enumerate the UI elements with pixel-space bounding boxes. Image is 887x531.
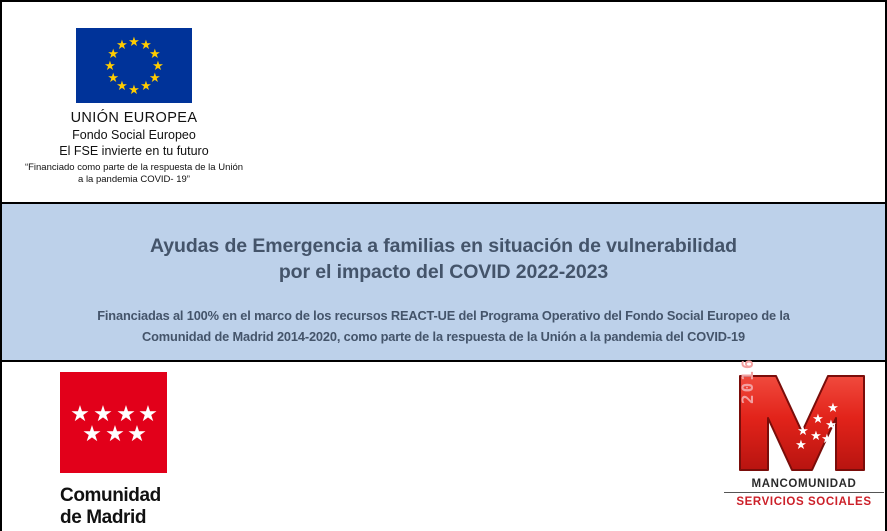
eu-flag-star-icon: ★ (116, 39, 128, 51)
logos-section: ★★★★★★★ Comunidad de Madrid (2, 362, 885, 529)
mancomunidad-m-icon: 2016 ★★★★★★★ (732, 370, 872, 476)
comunidad-de-madrid-logo: ★★★★★★★ Comunidad de Madrid (60, 372, 260, 529)
mancomunidad-star-icon: ★ (812, 412, 825, 425)
eu-flag-star-icon: ★ (104, 60, 116, 72)
banner-title-line1: Ayudas de Emergencia a familias en situa… (2, 234, 885, 260)
mancomunidad-name: MANCOMUNIDAD (724, 478, 884, 493)
eu-slogan: El FSE invierte en tu futuro (14, 144, 254, 158)
mancomunidad-year-label: 2016 (738, 357, 757, 404)
comunidad-de-madrid-star-icon: ★ (126, 423, 148, 445)
mancomunidad-star-icon: ★ (797, 424, 810, 437)
eu-flag-star-icon: ★ (128, 84, 140, 96)
poster-root: ★★★★★★★★★★★★ UNIÓN EUROPEA Fondo Social … (0, 0, 887, 531)
banner-title-line2: por el impacto del COVID 2022-2023 (2, 260, 885, 286)
banner-subtitle-line1: Financiadas al 100% en el marco de los r… (2, 306, 885, 326)
eu-fund-name: Fondo Social Europeo (14, 128, 254, 142)
eu-title: UNIÓN EUROPEA (14, 110, 254, 126)
comunidad-de-madrid-flag-icon: ★★★★★★★ (60, 372, 167, 473)
mancomunidad-star-icon: ★ (825, 418, 838, 431)
mancomunidad-star-icon: ★ (795, 438, 808, 451)
comunidad-de-madrid-wordmark-line1: Comunidad (60, 485, 260, 507)
mancomunidad-subtitle: SERVICIOS SOCIALES (724, 496, 884, 508)
eu-flag-star-icon: ★ (140, 80, 152, 92)
banner-subtitle-line2: Comunidad de Madrid 2014-2020, como part… (2, 327, 885, 347)
comunidad-de-madrid-star-icon: ★ (81, 423, 103, 445)
eu-funding-quote-line2: a la pandemia COVID- 19” (14, 174, 254, 186)
eu-logo-block: ★★★★★★★★★★★★ UNIÓN EUROPEA Fondo Social … (14, 28, 254, 186)
mancomunidad-star-icon: ★ (821, 432, 834, 445)
eu-flag-icon: ★★★★★★★★★★★★ (76, 28, 192, 103)
banner-title: Ayudas de Emergencia a familias en situa… (2, 204, 885, 285)
eu-funding-quote: “Financiado como parte de la respuesta d… (14, 162, 254, 186)
mancomunidad-star-icon: ★ (827, 401, 840, 414)
comunidad-de-madrid-wordmark-line2: de Madrid (60, 507, 260, 529)
comunidad-de-madrid-wordmark: Comunidad de Madrid (60, 485, 260, 529)
eu-funding-quote-line1: “Financiado como parte de la respuesta d… (14, 162, 254, 174)
eu-section: ★★★★★★★★★★★★ UNIÓN EUROPEA Fondo Social … (2, 2, 885, 204)
banner-subtitle: Financiadas al 100% en el marco de los r… (2, 285, 885, 347)
eu-flag-star-icon: ★ (128, 36, 140, 48)
comunidad-de-madrid-star-icon: ★ (104, 423, 126, 445)
mancomunidad-logo: 2016 ★★★★★★★ MANCOMUNIDAD SERVICIOS SOCI… (724, 370, 884, 508)
headline-banner: Ayudas de Emergencia a familias en situa… (2, 204, 885, 362)
eu-flag-star-icon: ★ (107, 72, 119, 84)
